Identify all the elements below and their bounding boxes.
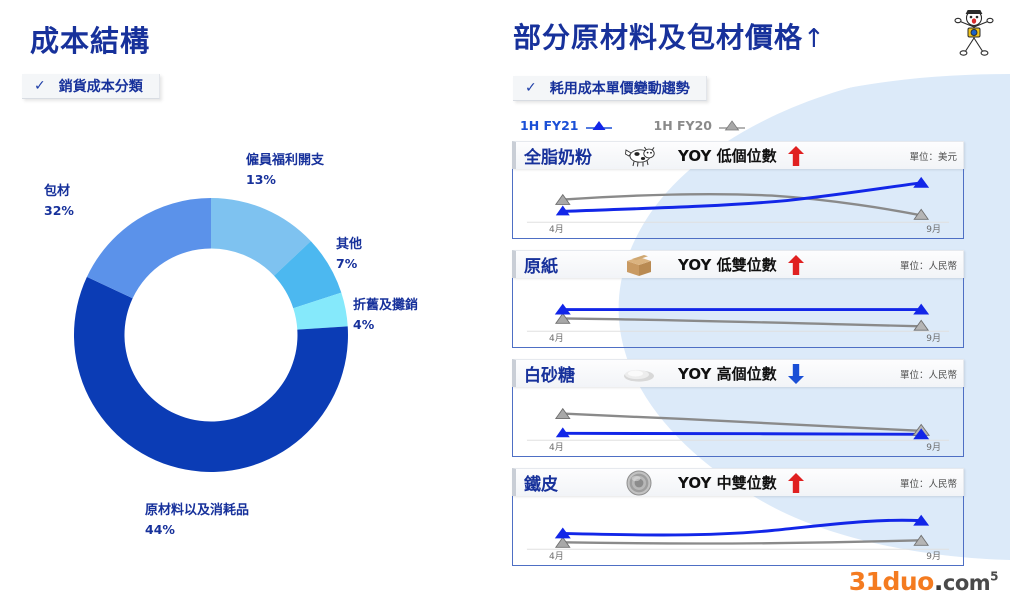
donut-label-raw-materials: 原材料以及消耗品 44% [145, 502, 249, 539]
material-name: 白砂糖 [524, 361, 616, 386]
badge-label: 銷貨成本分類 [59, 76, 143, 96]
card-header: 原紙 YOY 低雙位數 單位：人民幣 [512, 250, 964, 278]
watermark-tld: com [943, 571, 990, 595]
badge-label: 耗用成本單價變動趨勢 [550, 78, 690, 98]
trend-down-arrow-icon [786, 363, 806, 385]
legend-item-fy21: 1H FY21 [520, 118, 612, 133]
yoy-label: YOY 中雙位數 [678, 472, 777, 493]
card-plot: 4月 9月 [512, 169, 964, 239]
badge-cost-unit-trend[interactable]: ✓ 耗用成本單價變動趨勢 [513, 76, 707, 101]
x-tick-september: 9月 [926, 549, 941, 562]
series-fy20-line [563, 414, 921, 431]
card-header: 鐵皮 YOY 中雙位數 單位：人民幣 [512, 468, 964, 496]
yoy-label: YOY 低雙位數 [678, 254, 777, 275]
legend-label-fy20: 1H FY20 [654, 118, 713, 133]
page-title-left: 成本結構 [30, 18, 150, 60]
material-card-tinplate: 鐵皮 YOY 中雙位數 單位：人民幣 [512, 468, 964, 566]
material-card-whole-milk-powder: 全脂奶粉 [512, 141, 964, 239]
material-card-sugar: 白砂糖 YOY 高個位數 單位：人民幣 [512, 359, 964, 457]
left-panel: 成本結構 ✓ 銷貨成本分類 [0, 0, 505, 602]
cow-icon [616, 143, 662, 169]
title-up-arrow-icon: ↑ [803, 24, 826, 54]
triangle-up-blue-icon [586, 120, 612, 132]
series-fy20-line [563, 318, 921, 326]
unit-label: 單位：人民幣 [900, 367, 957, 381]
x-tick-april: 4月 [549, 440, 564, 453]
material-card-paper: 原紙 YOY 低雙位數 單位：人民幣 [512, 250, 964, 348]
watermark: 31duo.com5 [849, 567, 998, 596]
check-icon: ✓ [525, 81, 537, 95]
tin-lid-icon [616, 470, 662, 496]
donut-chart-svg [33, 150, 393, 550]
unit-label: 單位：美元 [909, 149, 957, 163]
series-fy21-line [563, 433, 921, 434]
material-name: 鐵皮 [524, 470, 616, 495]
legend-label-fy21: 1H FY21 [520, 118, 579, 133]
donut-slice-packaging [87, 198, 211, 298]
unit-label: 單位：人民幣 [900, 258, 957, 272]
material-name: 原紙 [524, 252, 616, 277]
material-name: 全脂奶粉 [524, 143, 616, 168]
donut-label-packaging: 包材 32% [44, 183, 74, 220]
trend-line-chart [513, 387, 963, 456]
legend-item-fy20: 1H FY20 [654, 118, 746, 133]
chart-legend: 1H FY21 1H FY20 [520, 118, 745, 133]
yoy-label: YOY 低個位數 [678, 145, 777, 166]
sugar-pile-icon [616, 361, 662, 387]
card-plot: 4月 9月 [512, 387, 964, 457]
unit-label: 單位：人民幣 [900, 476, 957, 490]
trend-line-chart [513, 278, 963, 347]
cardboard-box-icon [616, 252, 662, 278]
series-fy21-line [563, 520, 921, 535]
x-tick-april: 4月 [549, 222, 564, 235]
x-tick-september: 9月 [926, 331, 941, 344]
donut-label-employee-benefits: 僱員福利開支 13% [246, 152, 324, 189]
check-icon: ✓ [34, 79, 46, 93]
trend-line-chart [513, 169, 963, 238]
card-header: 全脂奶粉 [512, 141, 964, 169]
page-title-right: 部分原材料及包材價格↑ [513, 16, 826, 56]
badge-cost-breakdown[interactable]: ✓ 銷貨成本分類 [22, 74, 160, 99]
triangle-up-gray-icon [719, 120, 745, 132]
material-price-cards: 全脂奶粉 [512, 141, 964, 577]
card-plot: 4月 9月 [512, 278, 964, 348]
series-fy20-line [563, 540, 921, 543]
donut-label-depreciation: 折舊及攤銷 4% [353, 297, 418, 334]
watermark-brand: 31duo [849, 567, 934, 596]
donut-label-others: 其他 7% [336, 236, 362, 273]
trend-up-arrow-icon [786, 145, 806, 167]
watermark-dot: . [934, 567, 943, 596]
trend-up-arrow-icon [786, 254, 806, 276]
card-plot: 4月 9月 [512, 496, 964, 566]
yoy-label: YOY 高個位數 [678, 363, 777, 384]
x-tick-september: 9月 [926, 222, 941, 235]
x-tick-september: 9月 [926, 440, 941, 453]
donut-chart: 僱員福利開支 13% 其他 7% 折舊及攤銷 4% 原材料以及消耗品 44% 包… [33, 150, 393, 550]
x-tick-april: 4月 [549, 549, 564, 562]
trend-line-chart [513, 496, 963, 565]
page-number: 5 [990, 570, 998, 584]
slide-canvas: 成本結構 ✓ 銷貨成本分類 [0, 0, 1010, 602]
card-header: 白砂糖 YOY 高個位數 單位：人民幣 [512, 359, 964, 387]
x-tick-april: 4月 [549, 331, 564, 344]
mascot-logo [950, 4, 998, 56]
trend-up-arrow-icon [786, 472, 806, 494]
